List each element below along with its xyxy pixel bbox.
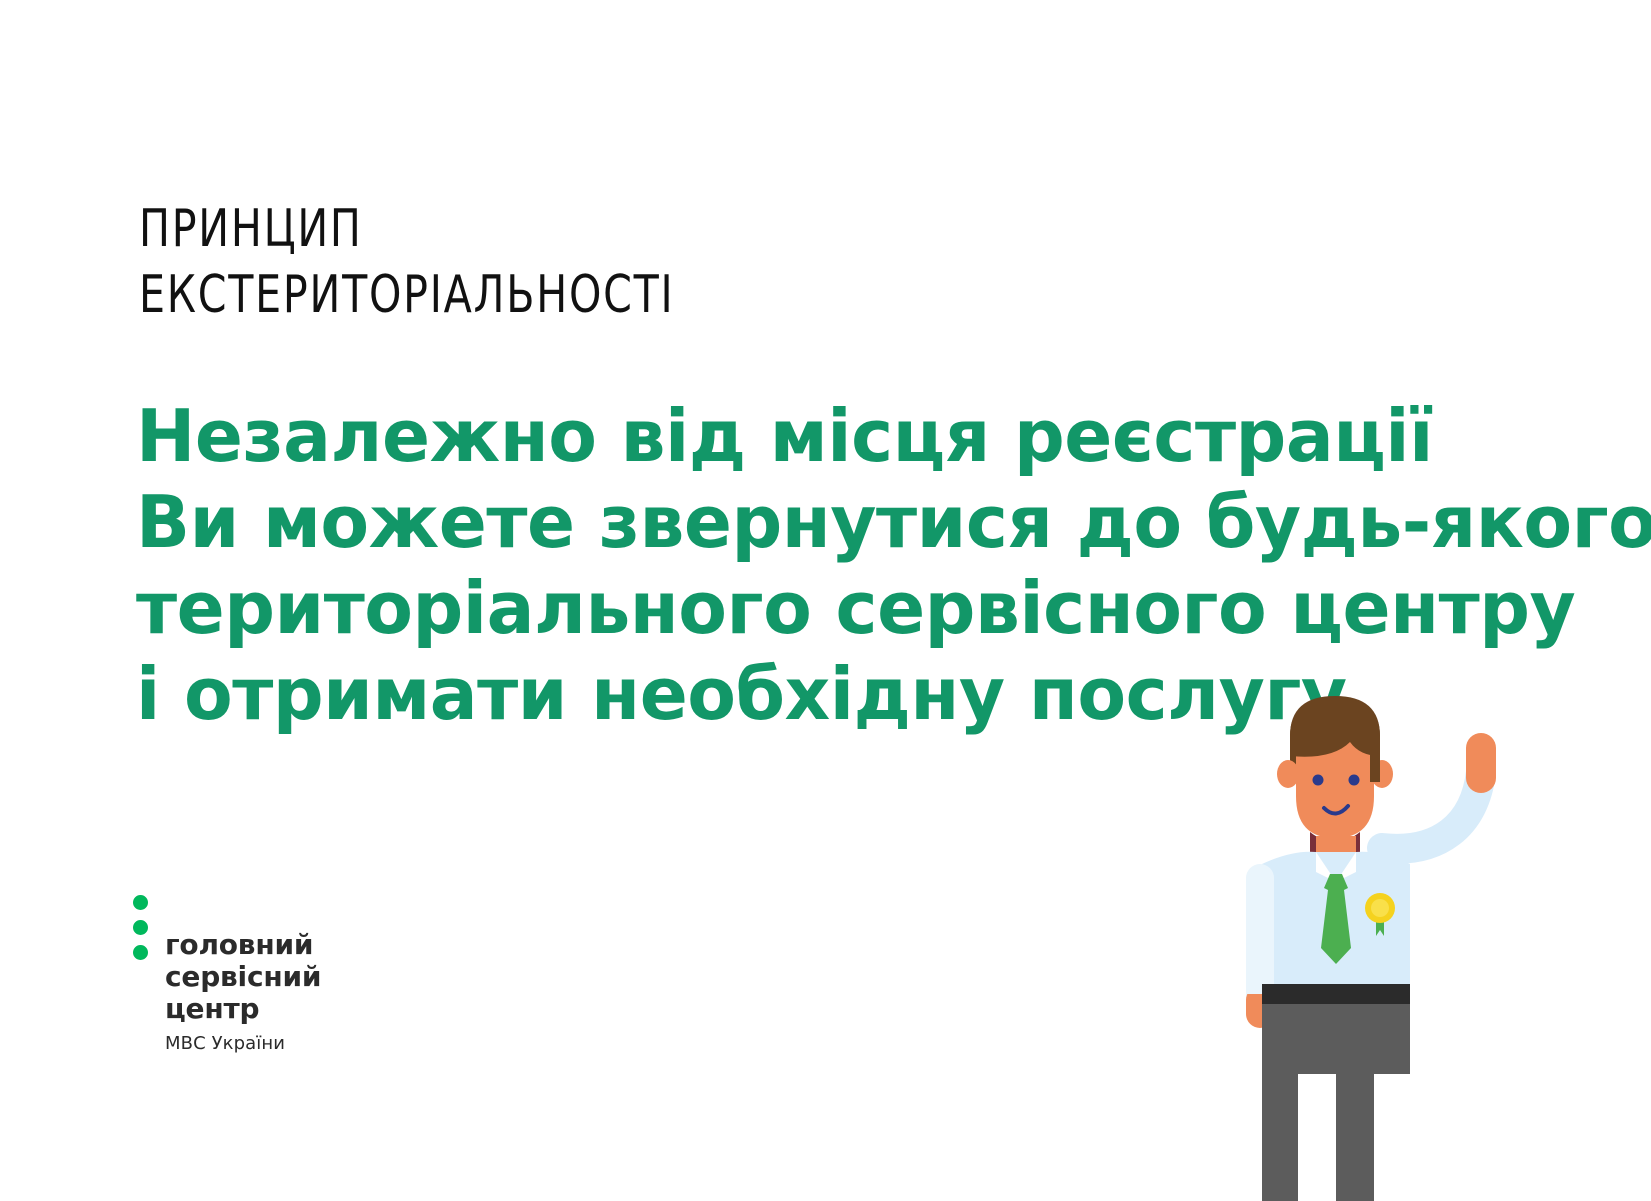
logo-word-1: головний (165, 929, 321, 961)
officer-figure-svg (1232, 686, 1532, 1201)
hair-fringe-icon (1290, 698, 1380, 757)
brand-logo: головний сервісний центр МВС України (133, 893, 433, 1055)
eye-right-icon (1349, 775, 1360, 786)
poster-canvas: ПРИНЦИП ЕКСТЕРИТОРІАЛЬНОСТІ Незалежно ві… (0, 0, 1651, 1201)
kicker-line-1: ПРИНЦИП (139, 196, 1019, 262)
logo-dot-1-icon (133, 895, 148, 910)
logo-dot-2-icon (133, 920, 148, 935)
logo-wordmark: головний сервісний центр (165, 893, 321, 1025)
logo-lockup: головний сервісний центр (133, 893, 433, 1025)
officer-illustration (1232, 686, 1532, 1201)
sideburn-icon (1370, 744, 1380, 782)
statement-line-3: територіального сервісного центру (136, 565, 1446, 651)
raised-arm-icon (1382, 748, 1481, 849)
statement-line-2: Ви можете звернутися до будь-якого (136, 479, 1446, 565)
logo-dots-icon (133, 893, 155, 960)
logo-subtitle: МВС України (165, 1033, 433, 1055)
kicker-line-2: ЕКСТЕРИТОРІАЛЬНОСТІ (139, 262, 1019, 328)
belt-icon (1262, 984, 1410, 1006)
statement-line-1: Незалежно від місця реєстрації (136, 393, 1446, 479)
eye-left-icon (1313, 775, 1324, 786)
logo-word-2: сервісний (165, 961, 321, 993)
trousers-hip-icon (1262, 1004, 1410, 1074)
logo-word-3: центр (165, 993, 321, 1025)
kicker-heading: ПРИНЦИП ЕКСТЕРИТОРІАЛЬНОСТІ (139, 196, 1019, 328)
ear-left-icon (1277, 760, 1299, 788)
logo-dot-3-icon (133, 945, 148, 960)
necktie-icon (1321, 874, 1351, 964)
